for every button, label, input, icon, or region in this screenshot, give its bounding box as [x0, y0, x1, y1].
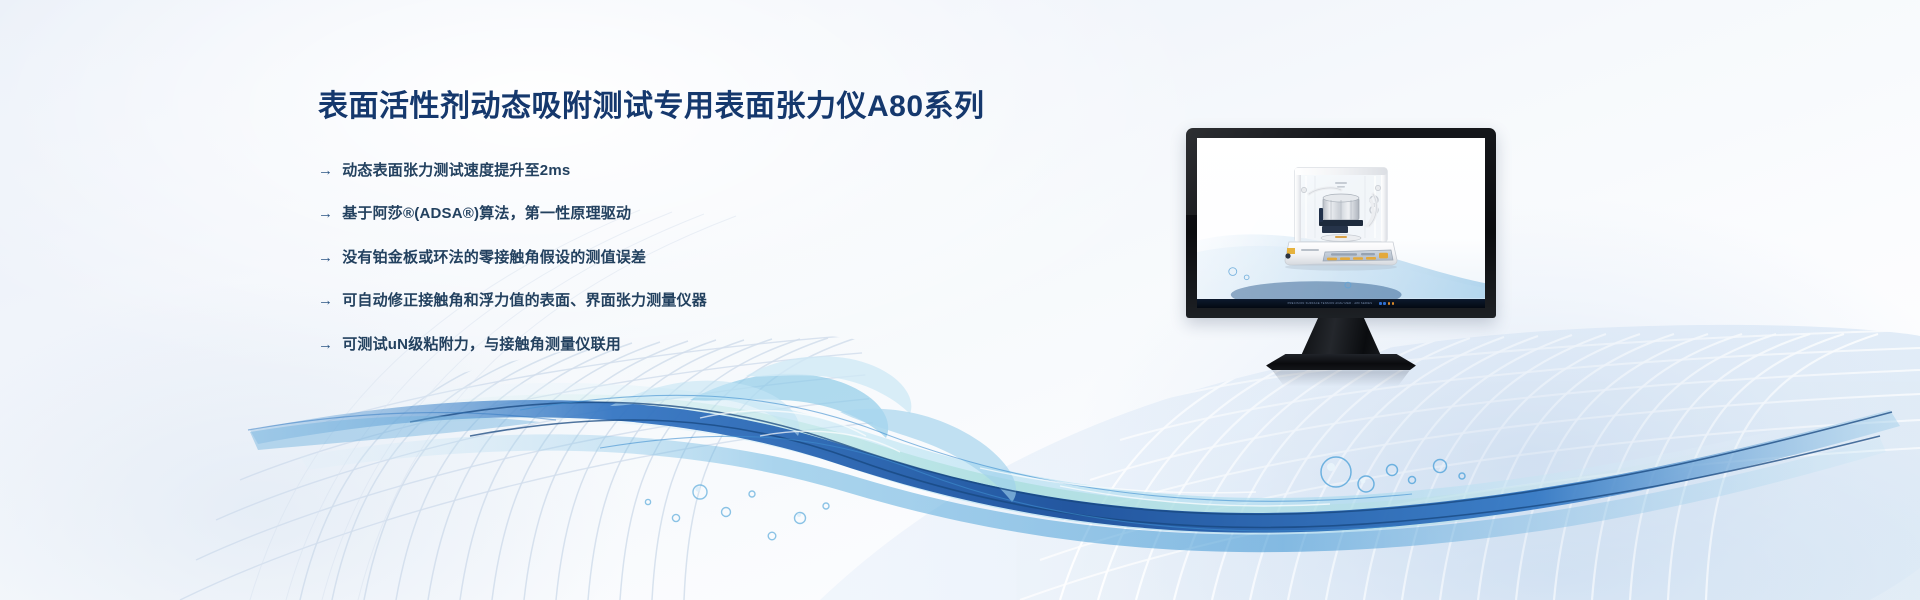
- list-item: → 没有铂金板或环法的零接触角假设的测值误差: [318, 247, 1138, 270]
- arrow-icon: →: [318, 203, 333, 226]
- arrow-icon: →: [318, 334, 333, 357]
- feature-text: 基于阿莎®(ADSA®)算法，第一性原理驱动: [342, 203, 1138, 226]
- list-item: → 基于阿莎®(ADSA®)算法，第一性原理驱动: [318, 203, 1138, 226]
- feature-text: 没有铂金板或环法的零接触角假设的测值误差: [342, 247, 1138, 270]
- monitor-stand-neck: [1300, 318, 1382, 358]
- page-title: 表面活性剂动态吸附测试专用表面张力仪A80系列: [318, 88, 1138, 126]
- product-banner: 表面活性剂动态吸附测试专用表面张力仪A80系列 → 动态表面张力测试速度提升至2…: [0, 0, 1920, 600]
- surface-tension-analyzer: [1279, 164, 1403, 280]
- status-leds: [1379, 302, 1394, 305]
- feature-text: 动态表面张力测试速度提升至2ms: [342, 160, 1138, 183]
- monitor-screen: [1197, 138, 1485, 299]
- feature-text: 可测试uN级粘附力，与接触角测量仪联用: [342, 334, 1138, 357]
- list-item: → 可自动修正接触角和浮力值的表面、界面张力测量仪器: [318, 290, 1138, 313]
- feature-text: 可自动修正接触角和浮力值的表面、界面张力测量仪器: [342, 290, 1138, 313]
- status-bar-text: PRECISION SURFACE TENSION ANALYZER · A80…: [1288, 302, 1373, 305]
- led-indicator: [1379, 302, 1382, 305]
- feature-list: → 动态表面张力测试速度提升至2ms → 基于阿莎®(ADSA®)算法，第一性原…: [318, 160, 1138, 357]
- monitor-stand-base: [1266, 354, 1416, 370]
- screen-status-bar: PRECISION SURFACE TENSION ANALYZER · A80…: [1197, 299, 1485, 308]
- product-monitor: PRECISION SURFACE TENSION ANALYZER · A80…: [1186, 128, 1496, 318]
- arrow-icon: →: [318, 247, 333, 270]
- copy-block: 表面活性剂动态吸附测试专用表面张力仪A80系列 → 动态表面张力测试速度提升至2…: [318, 88, 1138, 377]
- led-indicator: [1392, 302, 1395, 305]
- arrow-icon: →: [318, 160, 333, 183]
- list-item: → 可测试uN级粘附力，与接触角测量仪联用: [318, 334, 1138, 357]
- led-indicator: [1388, 302, 1391, 305]
- arrow-icon: →: [318, 290, 333, 313]
- led-indicator: [1383, 302, 1386, 305]
- monitor-stand-reflection: [1266, 370, 1416, 386]
- list-item: → 动态表面张力测试速度提升至2ms: [318, 160, 1138, 183]
